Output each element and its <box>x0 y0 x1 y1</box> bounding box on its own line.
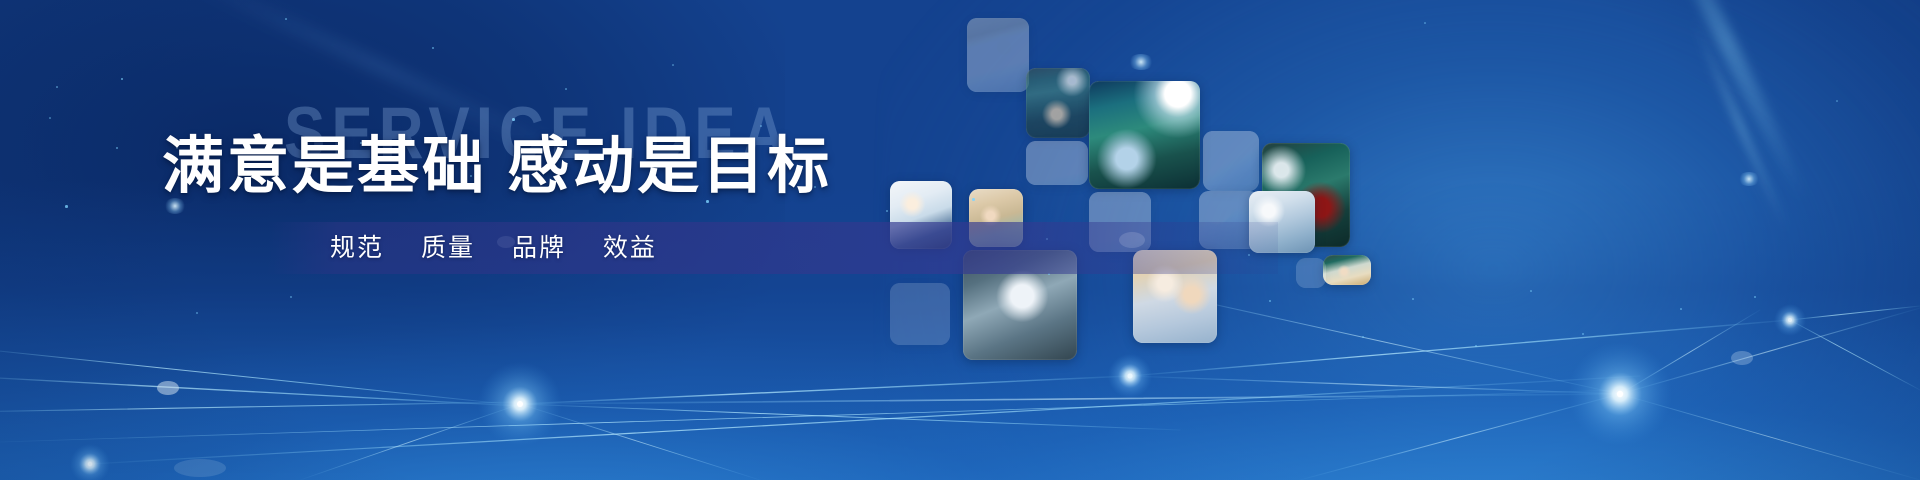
background-vignette <box>0 0 1920 480</box>
service-idea-banner: SERVICE IDEA 满意是基础 感动是目标 规范 质量 品牌 效益 <box>0 0 1920 480</box>
